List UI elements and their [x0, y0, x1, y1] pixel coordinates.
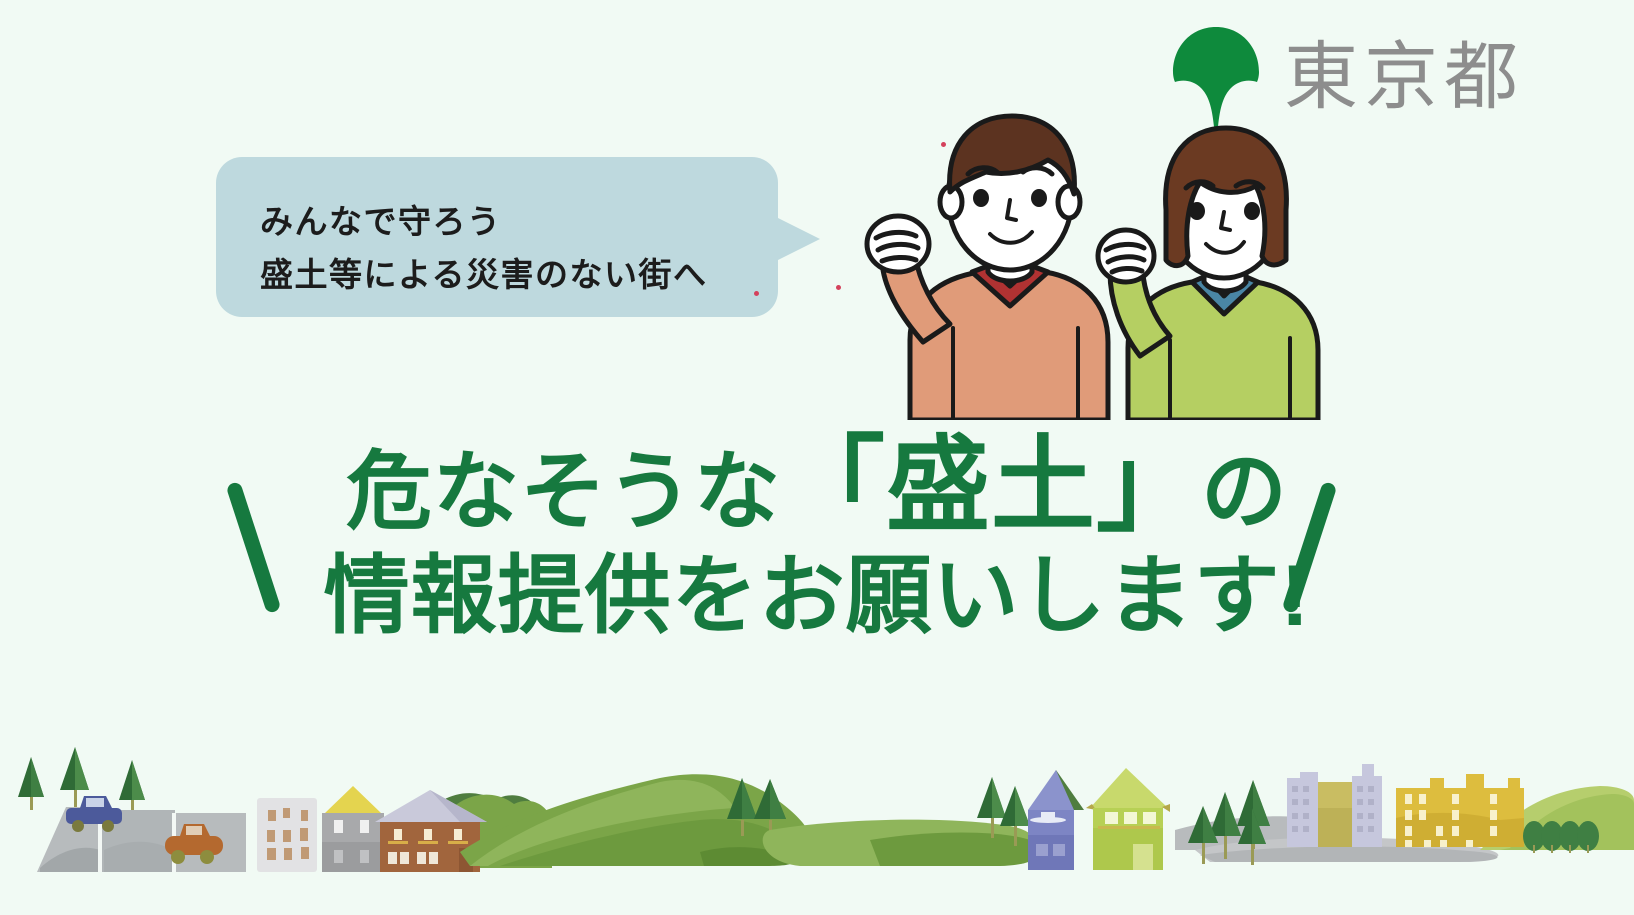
- speech-bubble-line-2: 盛土等による災害のない街へ: [260, 248, 778, 301]
- poster-canvas: 東京都 みんなで守ろう 盛土等による災害のない街へ: [0, 0, 1634, 915]
- headline-emphasis: 「盛土」: [781, 428, 1201, 544]
- headline-line-2: 情報提供をお願いします!: [0, 550, 1634, 643]
- characters-illustration: [820, 110, 1340, 420]
- headline-prefix: 危なそうな: [346, 444, 781, 540]
- headline-suffix: の: [1201, 444, 1288, 540]
- headline-line-1: 危なそうな「盛土」の: [0, 430, 1634, 542]
- green-house: [1086, 768, 1170, 870]
- confetti-dot: [754, 291, 759, 296]
- speech-bubble: みんなで守ろう 盛土等による災害のない街へ: [216, 157, 778, 317]
- man-waving: [867, 116, 1108, 420]
- woman-waving: [1098, 128, 1318, 420]
- yellow-roof: [325, 786, 381, 813]
- apartment-windows: [267, 808, 309, 860]
- hill-scene: [460, 774, 1041, 866]
- speech-bubble-tail: [776, 217, 820, 261]
- tree: [119, 760, 145, 813]
- speech-bubble-line-1: みんなで守ろう: [260, 195, 778, 248]
- blue-house: [1028, 770, 1084, 870]
- left-scene-road-with-cars: [18, 747, 246, 872]
- grey-house: [322, 786, 384, 872]
- page-title: 危なそうな「盛土」の 情報提供をお願いします!: [0, 430, 1634, 643]
- scenery-illustration: [0, 700, 1634, 915]
- tree: [18, 757, 44, 810]
- city-scene: [1175, 764, 1634, 865]
- tokyo-wordmark: 東京都: [1284, 40, 1524, 114]
